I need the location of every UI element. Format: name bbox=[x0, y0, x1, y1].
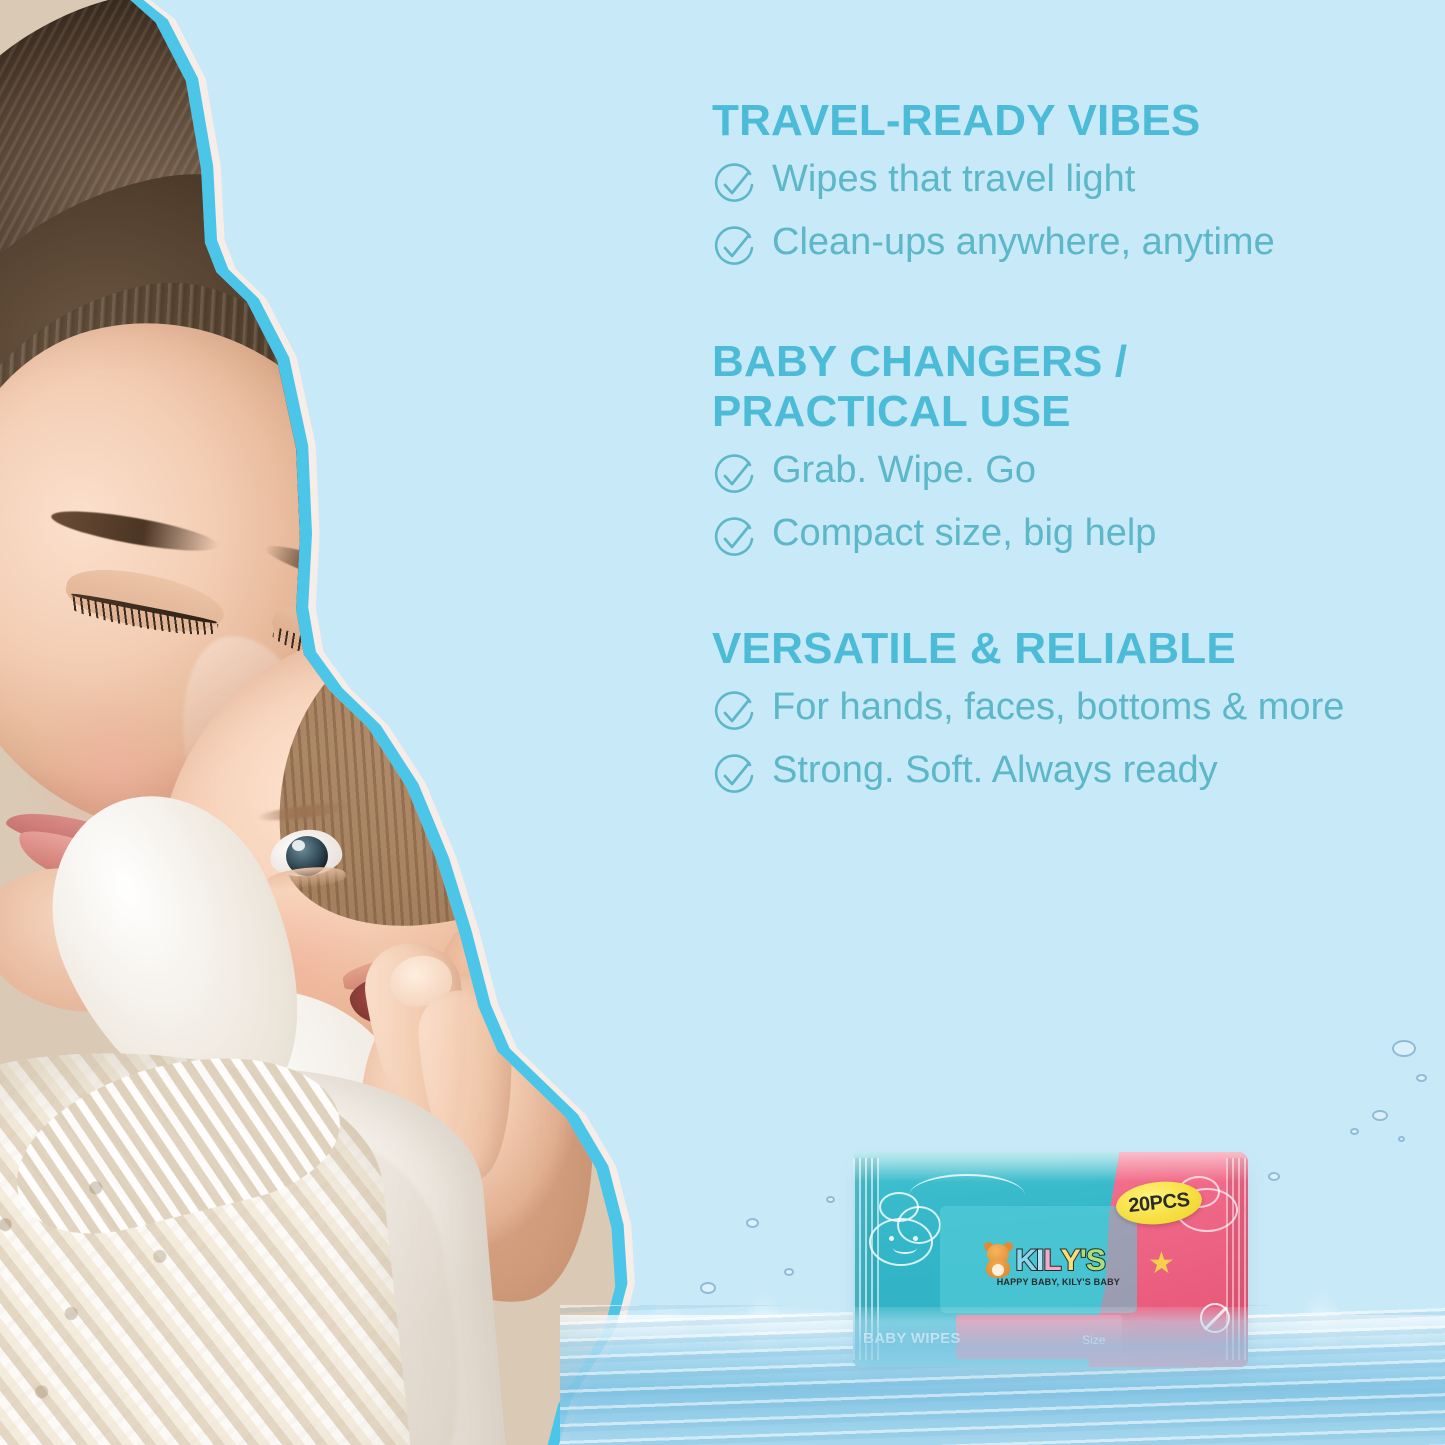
package-right-seal bbox=[1226, 1158, 1248, 1360]
brand-tagline: HAPPY BABY, KILY'S BABY bbox=[983, 1277, 1133, 1287]
teddy-bear-icon bbox=[983, 1244, 1013, 1278]
section-travel-ready-vibes: TRAVEL-READY VIBES Wipes that travel lig… bbox=[712, 96, 1402, 270]
cloud-face-eye-left bbox=[889, 1236, 894, 1241]
package-body: 20PCS K I L Y 'S HAPPY bbox=[853, 1152, 1248, 1367]
list-item: Clean-ups anywhere, anytime bbox=[712, 220, 1402, 270]
section-title-line2: PRACTICAL USE bbox=[712, 387, 1402, 436]
product-type-label: BABY WIPES bbox=[863, 1330, 961, 1347]
check-circle-icon bbox=[712, 163, 756, 207]
list-item-label: Clean-ups anywhere, anytime bbox=[772, 220, 1275, 264]
check-circle-icon bbox=[712, 517, 756, 561]
section-bullets: Grab. Wipe. Go Compact size, big help bbox=[712, 448, 1402, 561]
list-item-label: Strong. Soft. Always ready bbox=[772, 748, 1218, 792]
list-item-label: For hands, faces, bottoms & more bbox=[772, 685, 1344, 729]
section-bullets: Wipes that travel light Clean-ups anywhe… bbox=[712, 157, 1402, 270]
list-item: Strong. Soft. Always ready bbox=[712, 748, 1402, 798]
package-size-label: Size bbox=[1082, 1333, 1105, 1347]
check-circle-icon bbox=[712, 691, 756, 735]
section-title-line1: BABY CHANGERS / bbox=[712, 337, 1402, 386]
section-title: VERSATILE & RELIABLE bbox=[712, 624, 1402, 673]
brand-letter-4: Y bbox=[1061, 1246, 1080, 1276]
list-item-label: Wipes that travel light bbox=[772, 157, 1135, 201]
brand-letter-2: I bbox=[1036, 1246, 1043, 1276]
brand-wordmark: K I L Y 'S bbox=[1015, 1246, 1105, 1276]
product-feature-banner: 20PCS K I L Y 'S HAPPY bbox=[0, 0, 1445, 1445]
count-badge-label: 20PCS bbox=[1127, 1188, 1190, 1217]
product-package[interactable]: 20PCS K I L Y 'S HAPPY bbox=[853, 1152, 1248, 1367]
list-item-label: Grab. Wipe. Go bbox=[772, 448, 1036, 492]
brand-letter-5: 'S bbox=[1080, 1246, 1105, 1276]
no-flush-icon bbox=[1200, 1303, 1230, 1333]
brand-letter-3: L bbox=[1043, 1246, 1060, 1276]
cloud-face-eye-right bbox=[913, 1236, 918, 1241]
check-circle-icon bbox=[712, 754, 756, 798]
list-item: Wipes that travel light bbox=[712, 157, 1402, 207]
brand-letter-1: K bbox=[1015, 1246, 1036, 1276]
check-circle-icon bbox=[712, 226, 756, 270]
list-item: Grab. Wipe. Go bbox=[712, 448, 1402, 498]
cloud-doodle-icon-3 bbox=[879, 1192, 919, 1222]
list-item-label: Compact size, big help bbox=[772, 511, 1156, 555]
list-item: Compact size, big help bbox=[712, 511, 1402, 561]
list-item: For hands, faces, bottoms & more bbox=[712, 685, 1402, 735]
section-baby-changers: BABY CHANGERS / PRACTICAL USE Grab. Wipe… bbox=[712, 337, 1402, 561]
check-circle-icon bbox=[712, 454, 756, 498]
section-bullets: For hands, faces, bottoms & more Strong.… bbox=[712, 685, 1402, 798]
cloud-face-smile bbox=[893, 1242, 917, 1254]
section-title: TRAVEL-READY VIBES bbox=[712, 96, 1402, 145]
feature-list: TRAVEL-READY VIBES Wipes that travel lig… bbox=[712, 96, 1402, 811]
section-versatile-reliable: VERSATILE & RELIABLE For hands, faces, b… bbox=[712, 624, 1402, 798]
